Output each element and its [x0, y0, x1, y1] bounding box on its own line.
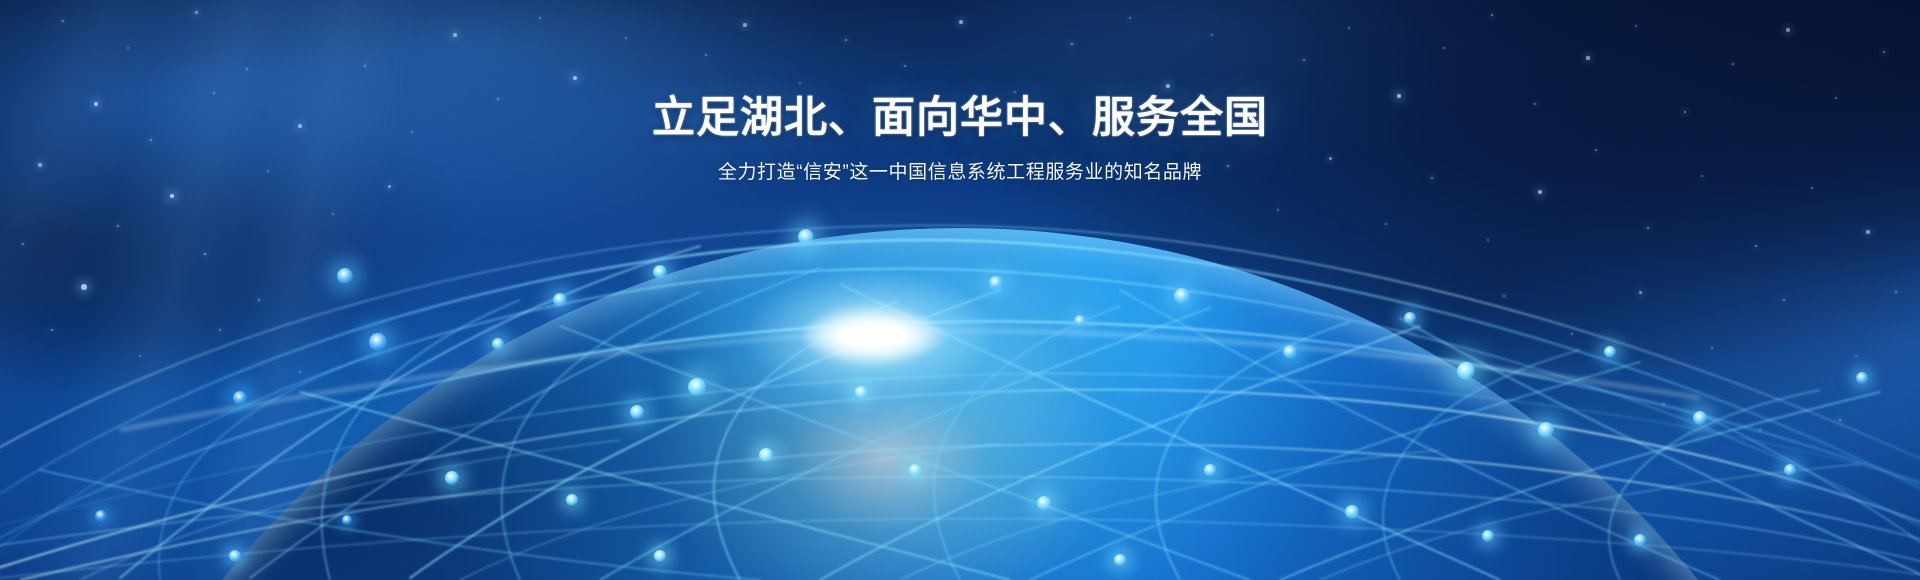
star-dot	[1503, 295, 1505, 297]
star-dot	[127, 47, 129, 49]
star-dot	[204, 253, 207, 256]
star-dot	[258, 299, 260, 301]
light-burst-core	[799, 309, 949, 363]
star-dot	[845, 39, 848, 42]
network-node	[1856, 372, 1868, 384]
network-node	[1404, 312, 1416, 324]
star-dot	[332, 213, 334, 215]
star-dot	[1647, 227, 1650, 230]
star-dot	[1663, 403, 1665, 405]
star-dot	[453, 33, 456, 36]
star-dot	[1586, 56, 1589, 59]
network-node	[233, 391, 247, 405]
star-dot	[1783, 299, 1786, 302]
star-dot	[81, 284, 86, 289]
star-dot	[1711, 347, 1713, 349]
star-dot	[625, 37, 627, 39]
network-node	[1693, 411, 1707, 425]
star-dot	[743, 23, 746, 26]
star-dot	[705, 54, 707, 56]
star-dot	[195, 11, 198, 14]
star-dot	[904, 65, 906, 67]
star-dot	[1129, 17, 1131, 19]
star-dot	[573, 76, 577, 80]
star-dot	[219, 329, 221, 331]
star-dot	[1443, 47, 1445, 49]
star-dot	[1277, 209, 1279, 211]
star-dot	[1855, 355, 1857, 357]
star-dot	[539, 17, 541, 19]
star-dot	[1755, 245, 1758, 248]
network-node	[369, 333, 387, 351]
star-dot	[1487, 239, 1489, 241]
star-dot	[1639, 291, 1642, 294]
star-dot	[799, 82, 801, 84]
star-dot	[299, 371, 301, 373]
star-dot	[117, 225, 119, 227]
star-dot	[1571, 333, 1573, 335]
star-dot	[1071, 43, 1074, 46]
star-dot	[1303, 59, 1305, 61]
star-dot	[22, 243, 24, 245]
star-dot	[1166, 84, 1170, 88]
network-node	[1604, 346, 1616, 358]
banner-copy: 立足湖北、面向华中、服务全国 全力打造“信安”这一中国信息系统工程服务业的知名品…	[0, 92, 1920, 186]
star-dot	[1895, 291, 1897, 293]
star-dot	[1786, 28, 1789, 31]
star-dot	[1883, 51, 1886, 54]
network-node	[95, 510, 107, 522]
star-dot	[1866, 230, 1869, 233]
network-node	[1784, 464, 1796, 476]
hero-banner: 立足湖北、面向华中、服务全国 全力打造“信安”这一中国信息系统工程服务业的知名品…	[0, 0, 1920, 580]
star-dot	[1385, 223, 1387, 225]
star-dot	[1759, 429, 1761, 431]
star-dot	[62, 20, 64, 22]
star-dot	[1538, 190, 1542, 194]
star-dot	[139, 355, 141, 357]
star-dot	[1635, 25, 1637, 27]
star-dot	[1491, 14, 1494, 17]
network-node	[337, 268, 353, 284]
star-dot	[959, 20, 963, 24]
star-dot	[170, 194, 175, 199]
star-dot	[1732, 63, 1734, 65]
network-node	[553, 293, 567, 307]
star-dot	[1348, 27, 1350, 29]
star-dot	[1839, 419, 1842, 422]
star-dot	[51, 329, 54, 332]
star-dot	[1211, 34, 1213, 36]
star-dot	[1811, 187, 1813, 189]
banner-headline: 立足湖北、面向华中、服务全国	[0, 92, 1920, 144]
star-dot	[364, 65, 367, 68]
star-dot	[246, 68, 248, 70]
banner-subline: 全力打造“信安”这一中国信息系统工程服务业的知名品牌	[0, 160, 1920, 186]
